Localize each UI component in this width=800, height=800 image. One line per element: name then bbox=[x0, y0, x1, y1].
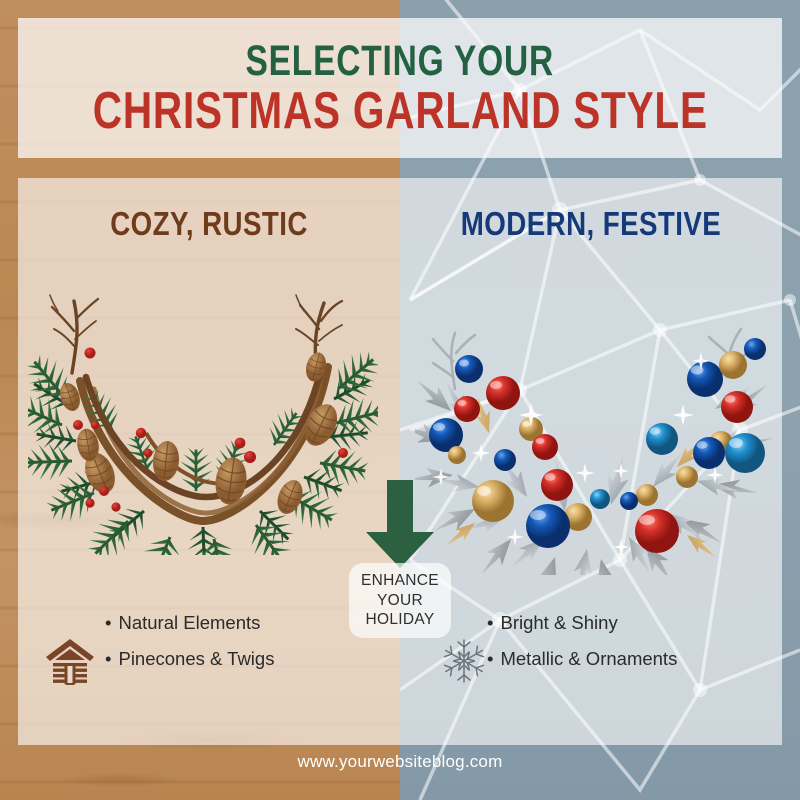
ornament bbox=[719, 351, 747, 379]
ornament bbox=[636, 484, 658, 506]
bullet-text: Metallic & Ornaments bbox=[500, 648, 677, 669]
footer-website-url: www.yourwebsiteblog.com bbox=[0, 752, 800, 772]
bullet-text: Pinecones & Twigs bbox=[118, 648, 274, 669]
ornament bbox=[526, 504, 570, 548]
ornament bbox=[620, 492, 638, 510]
ornament bbox=[676, 466, 698, 488]
left-column-bullet-list: •Natural Elements •Pinecones & Twigs bbox=[105, 614, 370, 685]
ornament bbox=[646, 423, 678, 455]
title-block: SELECTING YOUR CHRISTMAS GARLAND STYLE bbox=[18, 18, 782, 158]
right-column-bullet-list: •Bright & Shiny •Metallic & Ornaments bbox=[487, 614, 757, 685]
badge-line-3: HOLIDAY bbox=[366, 610, 435, 630]
rustic-garland-illustration bbox=[28, 285, 378, 555]
page-title-line-1: SELECTING YOUR bbox=[246, 40, 554, 83]
snowflake-icon bbox=[440, 637, 488, 685]
ornament bbox=[454, 396, 480, 422]
ornament bbox=[725, 433, 765, 473]
list-item: •Natural Elements bbox=[105, 614, 370, 633]
badge-line-2: YOUR bbox=[377, 591, 423, 611]
bullet-marker: • bbox=[105, 648, 111, 669]
ornament bbox=[455, 355, 483, 383]
bullet-text: Natural Elements bbox=[118, 612, 260, 633]
ornament bbox=[693, 437, 725, 469]
ornament bbox=[635, 509, 679, 553]
bullet-marker: • bbox=[105, 612, 111, 633]
badge-line-1: ENHANCE bbox=[361, 571, 439, 591]
page-title-line-2: CHRISTMAS GARLAND STYLE bbox=[92, 85, 707, 137]
down-arrow-icon bbox=[362, 480, 438, 568]
bullet-text: Bright & Shiny bbox=[500, 612, 617, 633]
log-cabin-icon bbox=[44, 637, 96, 687]
ornament bbox=[494, 449, 516, 471]
modern-garland-illustration bbox=[415, 325, 775, 575]
ornament bbox=[721, 391, 753, 423]
list-item: •Pinecones & Twigs bbox=[105, 650, 370, 669]
ornament bbox=[541, 469, 573, 501]
ornament bbox=[590, 489, 610, 509]
ornament bbox=[532, 434, 558, 460]
bullet-marker: • bbox=[487, 612, 493, 633]
left-column-heading: COZY, RUSTIC bbox=[49, 205, 370, 243]
list-item: •Bright & Shiny bbox=[487, 614, 757, 633]
ornament bbox=[486, 376, 520, 410]
infographic-canvas: SELECTING YOUR CHRISTMAS GARLAND STYLE C… bbox=[0, 0, 800, 800]
bullet-marker: • bbox=[487, 648, 493, 669]
ornament bbox=[687, 361, 723, 397]
ornament bbox=[744, 338, 766, 360]
ornament bbox=[448, 446, 466, 464]
right-column-heading: MODERN, FESTIVE bbox=[431, 205, 752, 243]
list-item: •Metallic & Ornaments bbox=[487, 650, 757, 669]
ornament bbox=[472, 480, 514, 522]
